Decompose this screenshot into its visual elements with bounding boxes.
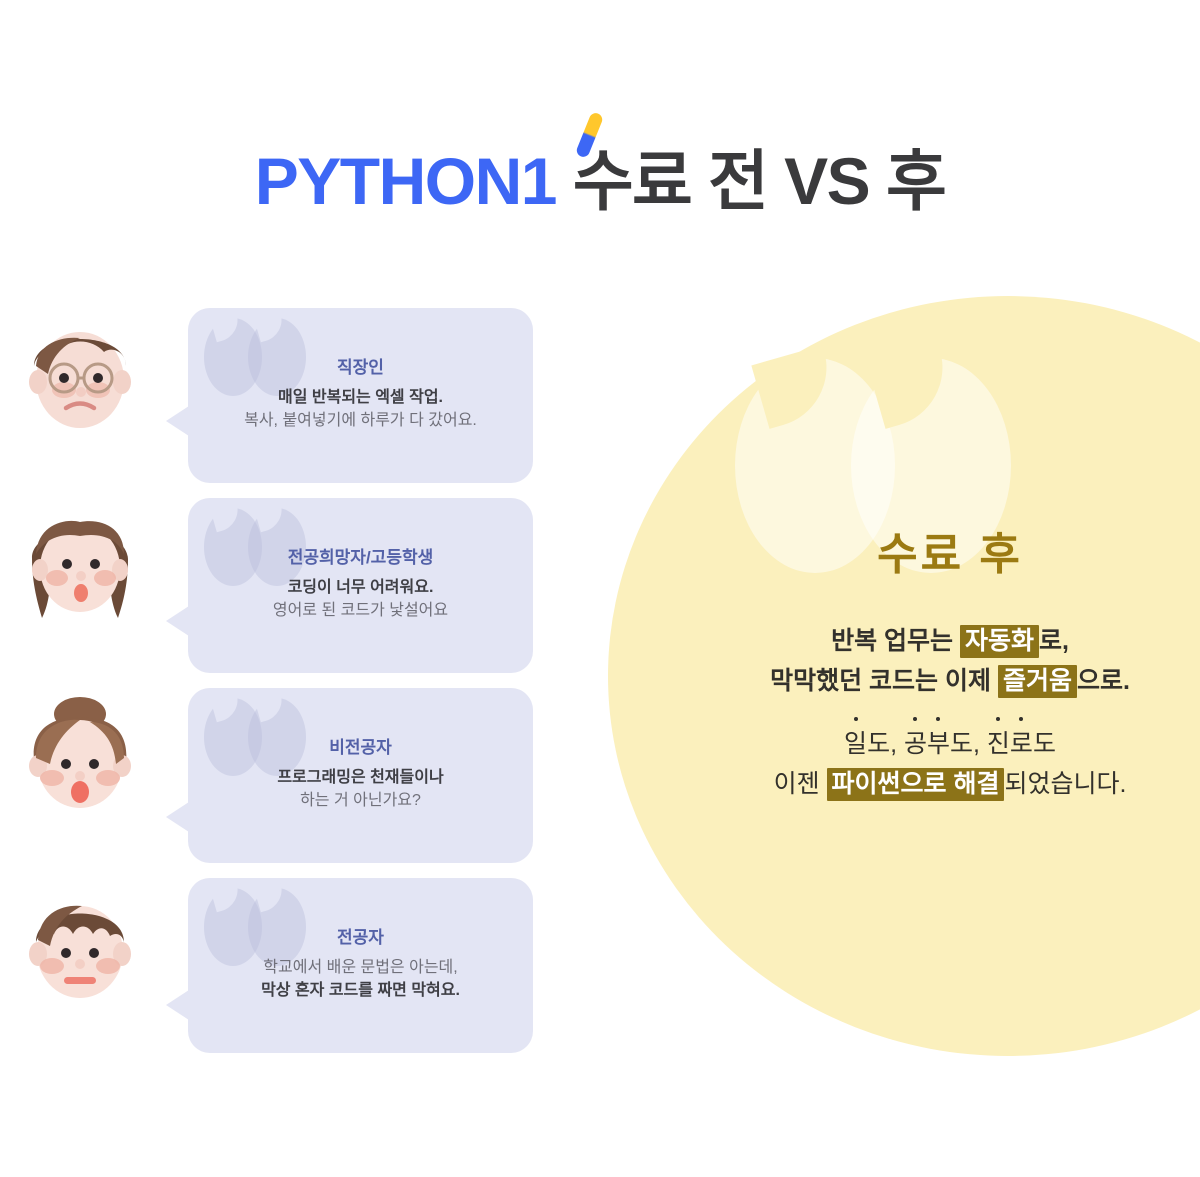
after-line-2-pre: 막막했던 코드는 이제 xyxy=(770,667,998,695)
testimonial-line-1: 학교에서 배운 문법은 아는데, xyxy=(263,957,457,980)
testimonial-role: 비전공자 xyxy=(329,738,392,758)
after-line-2: 막막했던 코드는 이제 즐거움으로. xyxy=(700,661,1200,702)
list-item: 전공자 학교에서 배운 문법은 아는데, 막상 혼자 코드를 짜면 막혀요. xyxy=(0,870,600,1060)
testimonial-line-2: 복사, 붙여넣기에 하루가 다 갔어요. xyxy=(244,410,477,433)
speech-bubble: 전공자 학교에서 배운 문법은 아는데, 막상 혼자 코드를 짜면 막혀요. xyxy=(188,878,533,1053)
after-line-1-highlight: 자동화 xyxy=(960,625,1039,658)
page-title: PYTHON1 수료 전 VS 후 xyxy=(0,148,1200,214)
testimonial-line-2: 하는 거 아닌가요? xyxy=(300,790,421,813)
face-long-hair-student-surprised-icon xyxy=(14,498,146,630)
title-rest: 수료 전 VS 후 xyxy=(573,148,945,214)
testimonial-role: 전공자 xyxy=(337,928,384,948)
testimonial-line-2: 막상 혼자 코드를 짜면 막혀요. xyxy=(261,980,460,1003)
after-line-2-post: 으로. xyxy=(1077,667,1130,695)
testimonial-line-1: 매일 반복되는 엑셀 작업. xyxy=(278,387,443,410)
after-spacer xyxy=(700,702,1200,724)
after-line-4-highlight: 파이썬으로 해결 xyxy=(827,768,1005,801)
infographic-canvas: PYTHON1 수료 전 VS 후 수료 후 반복 업무는 자동화로, 막막했던… xyxy=(0,0,1200,1177)
after-line-4-post: 되었습니다. xyxy=(1004,770,1126,798)
face-bowl-cut-neutral-icon xyxy=(14,878,146,1010)
face-office-worker-glasses-frowning-icon xyxy=(14,308,146,440)
list-item: 직장인 매일 반복되는 엑셀 작업. 복사, 붙여넣기에 하루가 다 갔어요. xyxy=(0,300,600,490)
after-line-3-seg-6: 진 xyxy=(987,730,1010,758)
list-item: 전공희망자/고등학생 코딩이 너무 어려워요. 영어로 된 코드가 낯설어요 xyxy=(0,490,600,680)
after-line-1: 반복 업무는 자동화로, xyxy=(700,621,1200,662)
after-line-3-seg-2: 도, xyxy=(867,730,904,758)
after-line-4-pre: 이젠 xyxy=(774,770,827,798)
testimonial-line-2: 영어로 된 코드가 낯설어요 xyxy=(273,600,448,623)
after-line-3-seg-8: 도 xyxy=(1033,730,1056,758)
before-testimonial-list: 직장인 매일 반복되는 엑셀 작업. 복사, 붙여넣기에 하루가 다 갔어요. xyxy=(0,300,600,1060)
after-line-3-seg-3: 공 xyxy=(904,730,927,758)
after-line-3-seg-4: 부 xyxy=(927,730,950,758)
after-line-3: 일도, 공부도, 진로도 xyxy=(700,724,1200,765)
after-title: 수료 후 xyxy=(700,530,1200,581)
after-line-3-seg-7: 로 xyxy=(1010,730,1033,758)
speech-bubble: 직장인 매일 반복되는 엑셀 작업. 복사, 붙여넣기에 하루가 다 갔어요. xyxy=(188,308,533,483)
face-bun-hair-surprised-icon xyxy=(14,688,146,820)
testimonial-role: 전공희망자/고등학생 xyxy=(288,548,433,568)
after-line-3-seg-1: 일 xyxy=(844,730,867,758)
list-item: 비전공자 프로그래밍은 천재들이나 하는 거 아닌가요? xyxy=(0,680,600,870)
speech-bubble: 전공희망자/고등학생 코딩이 너무 어려워요. 영어로 된 코드가 낯설어요 xyxy=(188,498,533,673)
testimonial-line-1: 프로그래밍은 천재들이나 xyxy=(277,767,443,790)
after-line-2-highlight: 즐거움 xyxy=(998,665,1077,698)
speech-bubble: 비전공자 프로그래밍은 천재들이나 하는 거 아닌가요? xyxy=(188,688,533,863)
after-line-1-post: 로, xyxy=(1039,627,1069,655)
testimonial-role: 직장인 xyxy=(337,358,384,378)
after-line-1-pre: 반복 업무는 xyxy=(831,627,960,655)
title-brand: PYTHON1 xyxy=(255,148,556,214)
testimonial-line-1: 코딩이 너무 어려워요. xyxy=(288,577,434,600)
after-content: 수료 후 반복 업무는 자동화로, 막막했던 코드는 이제 즐거움으로. 일도,… xyxy=(700,530,1200,805)
after-line-4: 이젠 파이썬으로 해결되었습니다. xyxy=(700,764,1200,805)
after-line-3-seg-5: 도, xyxy=(950,730,987,758)
